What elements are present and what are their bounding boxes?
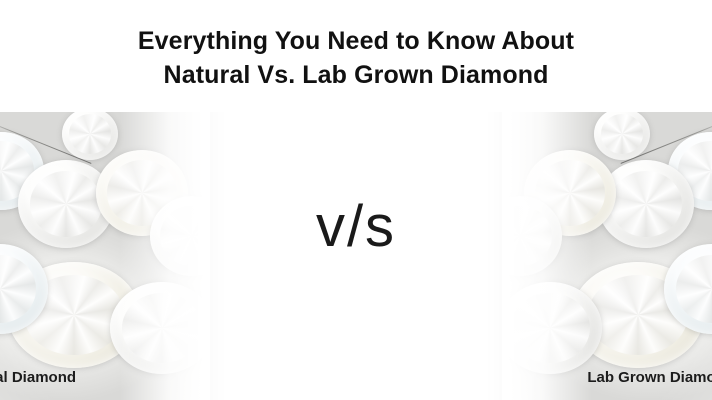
right-image-caption: Lab Grown Diamond <box>587 369 712 386</box>
headline-line-2: Natural Vs. Lab Grown Diamond <box>0 58 712 92</box>
headline-line-1: Everything You Need to Know About <box>138 27 574 55</box>
gem <box>62 108 118 160</box>
diamond-comparison-banner: Everything You Need to Know About Natura… <box>0 0 712 400</box>
page-title: Everything You Need to Know About Natura… <box>0 24 712 92</box>
versus-label: v/s <box>0 196 712 258</box>
left-image-caption: Natural Diamond <box>0 369 76 386</box>
gem <box>594 108 650 160</box>
